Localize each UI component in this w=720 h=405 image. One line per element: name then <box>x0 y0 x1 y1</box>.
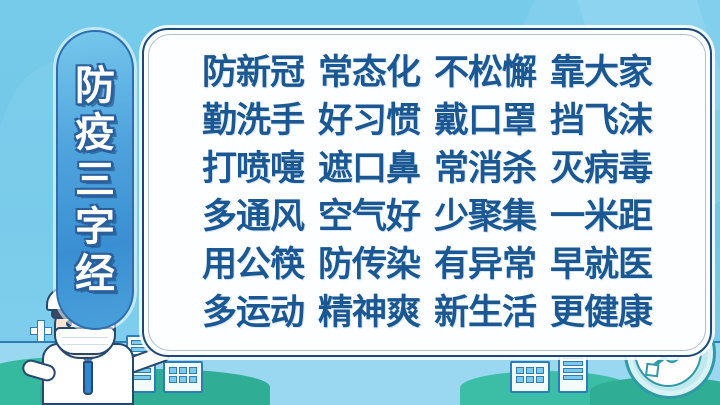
verse-phrase: 靠大家 <box>550 52 652 94</box>
verse-row-1: 防新冠 常态化 不松懈 靠大家 <box>144 49 710 97</box>
verse-phrase: 防新冠 <box>202 52 304 94</box>
face-mask-icon <box>54 327 116 355</box>
verse-phrase: 少聚集 <box>434 196 536 238</box>
doctor-tie <box>83 361 93 395</box>
verse-row-2: 勤洗手 好习惯 戴口罩 挡飞沫 <box>144 97 710 145</box>
verse-phrase: 防传染 <box>318 244 420 286</box>
verse-phrase: 灭病毒 <box>550 148 652 190</box>
verse-phrase: 新生活 <box>434 292 536 334</box>
verse-phrase: 不松懈 <box>434 52 536 94</box>
verse-phrase: 多运动 <box>202 292 304 334</box>
verse-phrase: 常态化 <box>318 52 420 94</box>
verse-phrase: 早就医 <box>550 244 652 286</box>
verse-phrase: 有异常 <box>434 244 536 286</box>
vertical-title-char-1: 疫 <box>75 110 115 156</box>
building-icon-right-wide <box>510 361 550 393</box>
verse-phrase: 打喷嚏 <box>202 148 304 190</box>
verse-phrase: 多通风 <box>202 196 304 238</box>
verse-row-4: 多通风 空气好 少聚集 一米距 <box>144 193 710 241</box>
vertical-title-char-0: 防 <box>75 63 115 109</box>
verse-phrase: 戴口罩 <box>434 100 536 142</box>
verse-phrase: 勤洗手 <box>202 100 304 142</box>
poster-canvas: 防 疫 三 字 经 防新冠 常态化 不松懈 靠大家 勤洗手 好习惯 戴口罩 挡飞… <box>0 0 720 405</box>
vertical-title-char-4: 经 <box>75 251 115 297</box>
verse-phrase: 好习惯 <box>318 100 420 142</box>
verse-phrase: 挡飞沫 <box>550 100 652 142</box>
vertical-title-char-2: 三 <box>75 157 115 203</box>
verse-phrase: 空气好 <box>318 196 420 238</box>
verse-card: 防新冠 常态化 不松懈 靠大家 勤洗手 好习惯 戴口罩 挡飞沫 打喷嚏 遮口鼻 … <box>142 28 712 357</box>
verse-row-3: 打喷嚏 遮口鼻 常消杀 灭病毒 <box>144 145 710 193</box>
verse-phrase: 精神爽 <box>318 292 420 334</box>
verse-row-5: 用公筷 防传染 有异常 早就医 <box>144 241 710 289</box>
verse-phrase: 更健康 <box>550 292 652 334</box>
vertical-title-char-3: 字 <box>75 204 115 250</box>
verse-row-6: 多运动 精神爽 新生活 更健康 <box>144 289 710 337</box>
vertical-title-banner: 防 疫 三 字 经 <box>56 30 134 330</box>
verse-phrase: 一米距 <box>550 196 652 238</box>
verse-phrase: 遮口鼻 <box>318 148 420 190</box>
verse-phrase: 常消杀 <box>434 148 536 190</box>
verse-phrase: 用公筷 <box>202 244 304 286</box>
